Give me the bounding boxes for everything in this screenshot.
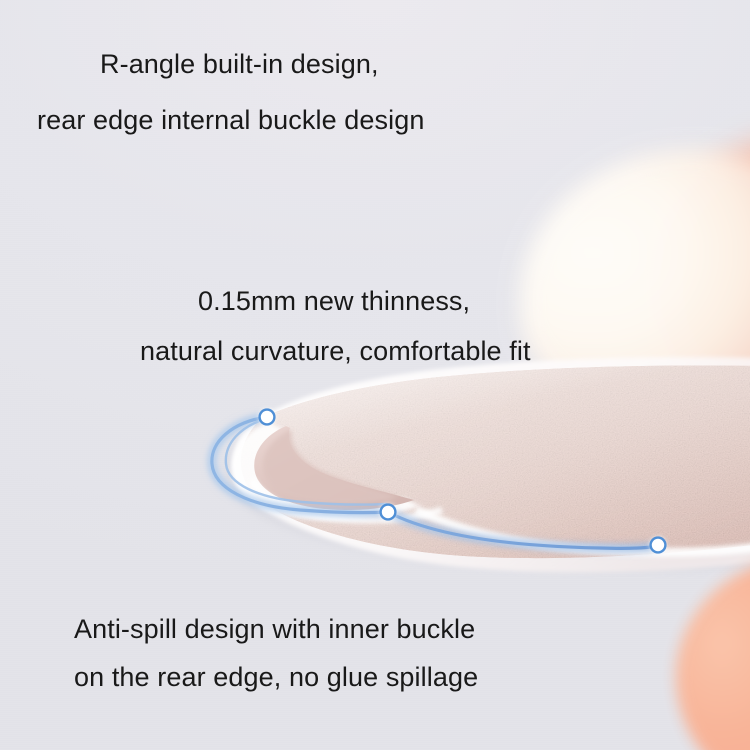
mid-caption-line-1: 0.15mm new thinness, <box>198 286 470 317</box>
r-angle-top-marker <box>258 408 276 426</box>
headline-line-1: R-angle built-in design, <box>100 49 379 80</box>
product-image-canvas: R-angle built-in design, rear edge inter… <box>0 0 750 750</box>
product-illustration <box>0 330 750 630</box>
bottom-caption-line-1: Anti-spill design with inner buckle <box>74 614 475 645</box>
rear-edge-marker <box>649 536 667 554</box>
inner-buckle-marker <box>379 503 397 521</box>
mid-caption-line-2: natural curvature, comfortable fit <box>140 336 531 367</box>
bottom-caption-line-2: on the rear edge, no glue spillage <box>74 662 478 693</box>
headline-line-2: rear edge internal buckle design <box>37 105 424 136</box>
